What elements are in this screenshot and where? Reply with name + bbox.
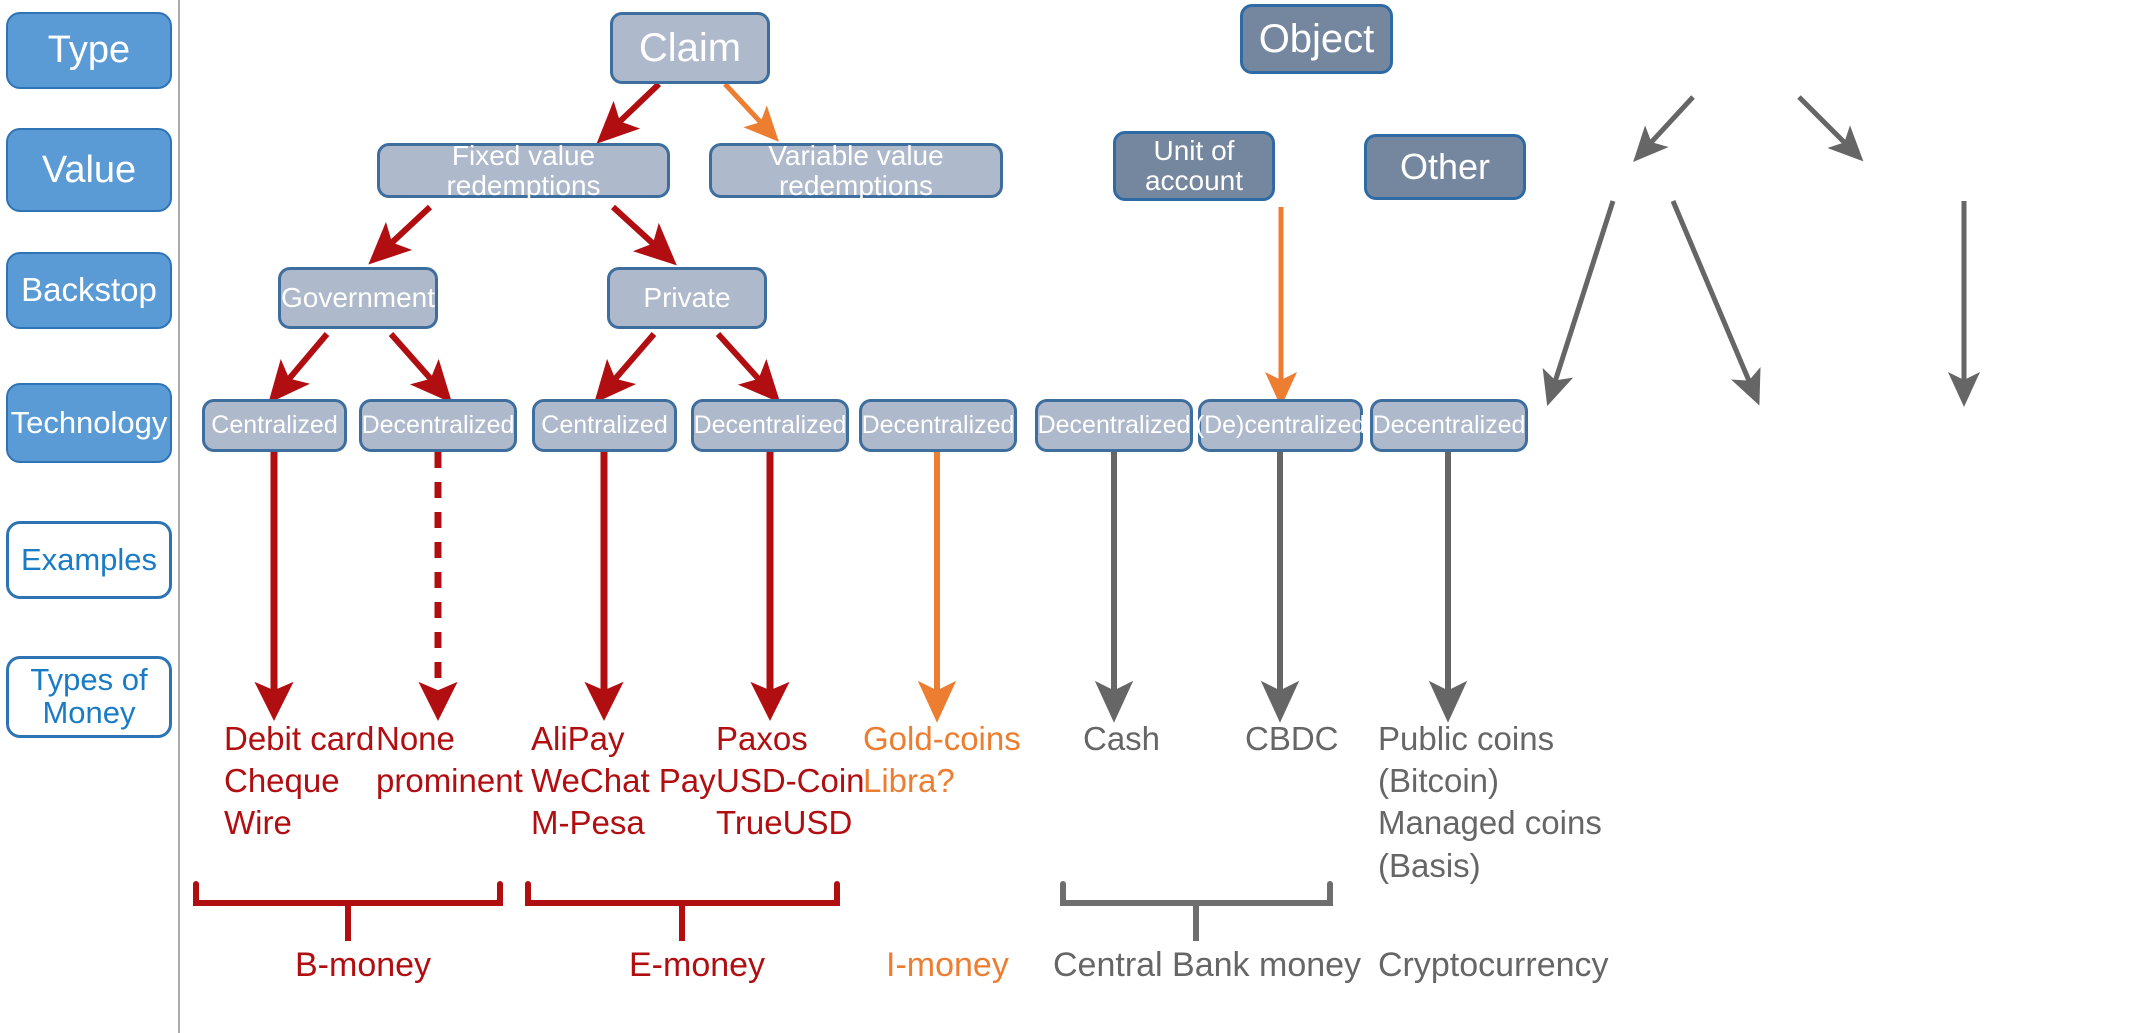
node-other-label: Other — [1400, 148, 1490, 186]
edge-government-to-centralized — [283, 334, 327, 386]
node-government[interactable]: Government — [278, 267, 438, 329]
node-tech-ivalue-decentralized-label: Decentralized — [862, 412, 1015, 439]
examples-paxos: Paxos USD-Coin TrueUSD — [716, 718, 865, 845]
node-tech-priv-decentralized[interactable]: Decentralized — [691, 399, 849, 452]
row-label-backstop-text: Backstop — [21, 273, 157, 308]
node-variable-value-label: Variable value redemptions — [712, 141, 1000, 200]
money-crypto: Cryptocurrency — [1378, 946, 1609, 985]
edge-object-to-other — [1799, 97, 1850, 148]
node-government-label: Government — [281, 283, 435, 313]
node-tech-priv-centralized[interactable]: Centralized — [532, 399, 677, 452]
row-label-technology[interactable]: Technology — [6, 383, 172, 463]
money-b: B-money — [295, 946, 431, 985]
connector-layer — [0, 0, 2145, 1033]
examples-debit: Debit card Cheque Wire — [224, 718, 374, 845]
brace-central-bank — [1063, 884, 1330, 920]
row-label-technology-text: Technology — [11, 407, 168, 440]
node-private[interactable]: Private — [607, 267, 767, 329]
row-label-type[interactable]: Type — [6, 12, 172, 89]
node-claim[interactable]: Claim — [610, 12, 770, 84]
edge-private-to-centralized — [609, 334, 654, 386]
node-claim-label: Claim — [639, 27, 741, 69]
examples-cbdc: CBDC — [1245, 718, 1339, 760]
node-tech-ivalue-decentralized[interactable]: Decentralized — [859, 399, 1017, 452]
edge-private-to-decentralized — [718, 334, 765, 386]
node-other[interactable]: Other — [1364, 134, 1526, 200]
node-tech-gov-centralized[interactable]: Centralized — [202, 399, 347, 452]
node-object-label: Object — [1259, 18, 1375, 60]
node-fixed-value-redemptions[interactable]: Fixed value redemptions — [377, 143, 670, 198]
row-label-types-of-money-text: Types of Money — [30, 664, 147, 730]
examples-alipay: AliPay WeChat Pay M-Pesa — [531, 718, 716, 845]
edge-fixed-to-private — [613, 207, 660, 250]
row-label-examples[interactable]: Examples — [6, 521, 172, 599]
node-tech-gov-decentralized[interactable]: Decentralized — [359, 399, 517, 452]
examples-coins: Public coins (Bitcoin) Managed coins (Ba… — [1378, 718, 1602, 887]
money-e: E-money — [629, 946, 765, 985]
examples-cash: Cash — [1083, 718, 1160, 760]
edge-object-to-unit — [1646, 97, 1693, 148]
money-cb: Central Bank money — [1053, 946, 1361, 985]
row-label-value[interactable]: Value — [6, 128, 172, 212]
row-label-examples-text: Examples — [21, 544, 157, 577]
examples-gold: Gold-coins Libra? — [863, 718, 1021, 802]
node-private-label: Private — [643, 283, 730, 313]
edge-unit-to-decentralized — [1553, 201, 1613, 388]
node-tech-uoa-decentralized2-label: (De)centralized — [1196, 412, 1366, 439]
diagram-canvas: Type Value Backstop Technology Examples … — [0, 0, 2145, 1033]
node-tech-priv-centralized-label: Centralized — [541, 412, 667, 439]
examples-none: None prominent — [376, 718, 523, 802]
node-unit-of-account[interactable]: Unit of account — [1113, 131, 1275, 201]
row-label-type-text: Type — [48, 30, 130, 70]
node-tech-uoa-decentralized-label: Decentralized — [1038, 412, 1191, 439]
node-tech-gov-decentralized-label: Decentralized — [362, 412, 515, 439]
node-tech-uoa-decentralized[interactable]: Decentralized — [1035, 399, 1193, 452]
row-label-types-of-money[interactable]: Types of Money — [6, 656, 172, 738]
edge-fixed-to-government — [385, 207, 430, 249]
row-label-backstop[interactable]: Backstop — [6, 252, 172, 329]
left-column-divider — [178, 0, 180, 1033]
edge-claim-to-variable — [725, 84, 766, 128]
brace-b-money — [196, 884, 500, 920]
money-i: I-money — [886, 946, 1009, 985]
node-tech-other-decentralized-label: Decentralized — [1373, 412, 1526, 439]
node-tech-other-decentralized[interactable]: Decentralized — [1370, 399, 1528, 452]
edge-claim-to-fixed — [613, 84, 659, 128]
edge-government-to-decentralized — [391, 334, 437, 386]
node-unit-of-account-label: Unit of account — [1145, 136, 1243, 195]
node-tech-gov-centralized-label: Centralized — [211, 412, 337, 439]
edge-unit-to-decentralized2 — [1673, 201, 1752, 388]
node-tech-uoa-decentralized2[interactable]: (De)centralized — [1198, 399, 1363, 452]
node-object[interactable]: Object — [1240, 4, 1393, 74]
brace-e-money — [528, 884, 837, 920]
node-fixed-value-label: Fixed value redemptions — [380, 141, 667, 200]
node-variable-value-redemptions[interactable]: Variable value redemptions — [709, 143, 1003, 198]
row-label-value-text: Value — [42, 150, 136, 190]
node-tech-priv-decentralized-label: Decentralized — [694, 412, 847, 439]
